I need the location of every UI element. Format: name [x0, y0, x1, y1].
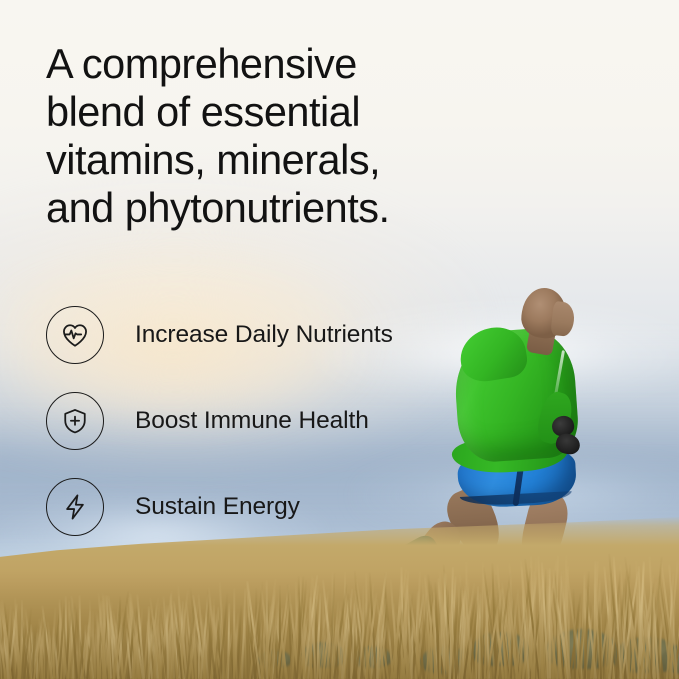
headline-line-1: A comprehensive	[46, 40, 516, 88]
heart-pulse-icon	[46, 306, 104, 364]
benefit-item-boost-immune-health: Boost Immune Health	[46, 393, 393, 449]
runner-face	[550, 301, 575, 337]
headline-line-2: blend of essential	[46, 88, 516, 136]
hill-shadow	[0, 570, 679, 679]
benefit-label: Increase Daily Nutrients	[135, 323, 393, 348]
shield-plus-icon	[46, 392, 104, 450]
lightning-bolt-icon	[46, 478, 104, 536]
benefit-item-sustain-energy: Sustain Energy	[46, 479, 393, 535]
page-title: A comprehensive blend of essential vitam…	[46, 40, 516, 232]
benefit-label: Sustain Energy	[135, 495, 300, 520]
headline-line-3: vitamins, minerals,	[46, 136, 516, 184]
benefit-item-increase-daily-nutrients: Increase Daily Nutrients	[46, 307, 393, 363]
benefit-label: Boost Immune Health	[135, 409, 369, 434]
benefits-list: Increase Daily Nutrients Boost Immune He…	[46, 307, 393, 565]
headline-line-4: and phytonutrients.	[46, 184, 516, 232]
product-benefits-banner: A comprehensive blend of essential vitam…	[0, 0, 679, 679]
